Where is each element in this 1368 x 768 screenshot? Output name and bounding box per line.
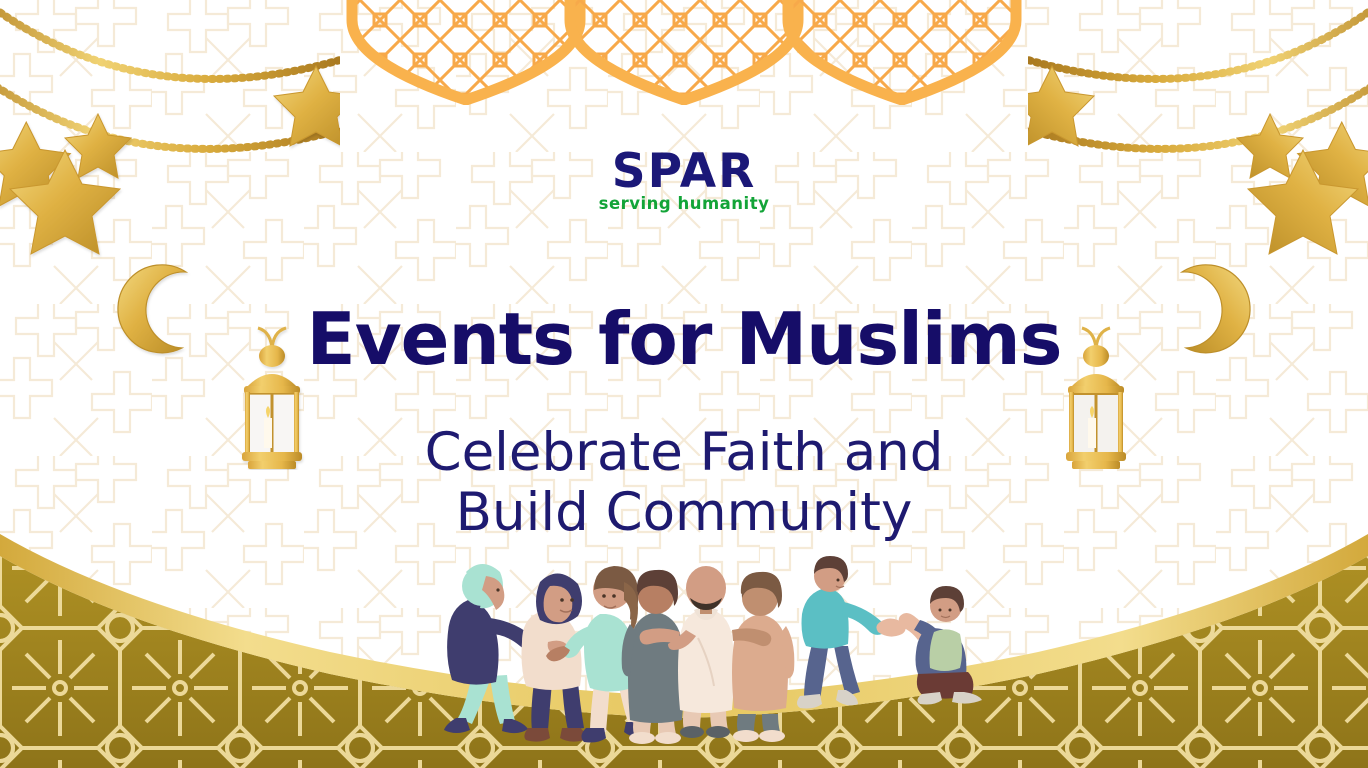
ogee-arch-row bbox=[0, 0, 1368, 105]
beaded-chain-icon bbox=[1028, 0, 1368, 149]
figure-woman-center bbox=[522, 573, 586, 741]
hanging-decorations-left bbox=[0, 0, 340, 470]
figure-boy-crouching bbox=[899, 586, 982, 705]
figure-woman-right bbox=[546, 566, 646, 743]
band-rim bbox=[0, 534, 1368, 718]
figure-man-right bbox=[732, 572, 794, 742]
subtitle-line-1: Celebrate Faith and bbox=[0, 423, 1368, 483]
brand-logo: SPAR serving humanity bbox=[0, 148, 1368, 213]
three-women-embracing bbox=[444, 564, 646, 743]
brand-name: SPAR bbox=[0, 148, 1368, 195]
people-illustration-row bbox=[0, 538, 1368, 768]
ogee-arch-icon bbox=[340, 0, 600, 105]
beaded-chain-icon bbox=[0, 0, 340, 149]
geometric-star-pattern-icon bbox=[0, 0, 1368, 768]
hanging-decorations-right bbox=[1028, 0, 1368, 470]
figure-man-center bbox=[678, 566, 734, 738]
gold-ornament-band bbox=[0, 508, 1368, 768]
two-boys-helping-hand bbox=[797, 556, 982, 709]
page-subtitle: Celebrate Faith and Build Community bbox=[0, 423, 1368, 543]
figure-woman-left bbox=[444, 564, 552, 733]
page-title: Events for Muslims bbox=[0, 303, 1368, 375]
subtitle-line-2: Build Community bbox=[0, 483, 1368, 543]
clasped-hands-icon bbox=[876, 618, 905, 636]
arms-over-shoulders bbox=[640, 628, 772, 650]
brand-tagline: serving humanity bbox=[0, 196, 1368, 213]
ogee-arch-icon bbox=[558, 0, 818, 105]
ogee-arch-icon bbox=[776, 0, 1036, 105]
three-men-arms-around-shoulders bbox=[622, 566, 795, 744]
banner-canvas: SPAR serving humanity Events for Muslims… bbox=[0, 0, 1368, 768]
figure-boy-standing bbox=[797, 556, 887, 709]
figure-man-left bbox=[622, 570, 684, 744]
